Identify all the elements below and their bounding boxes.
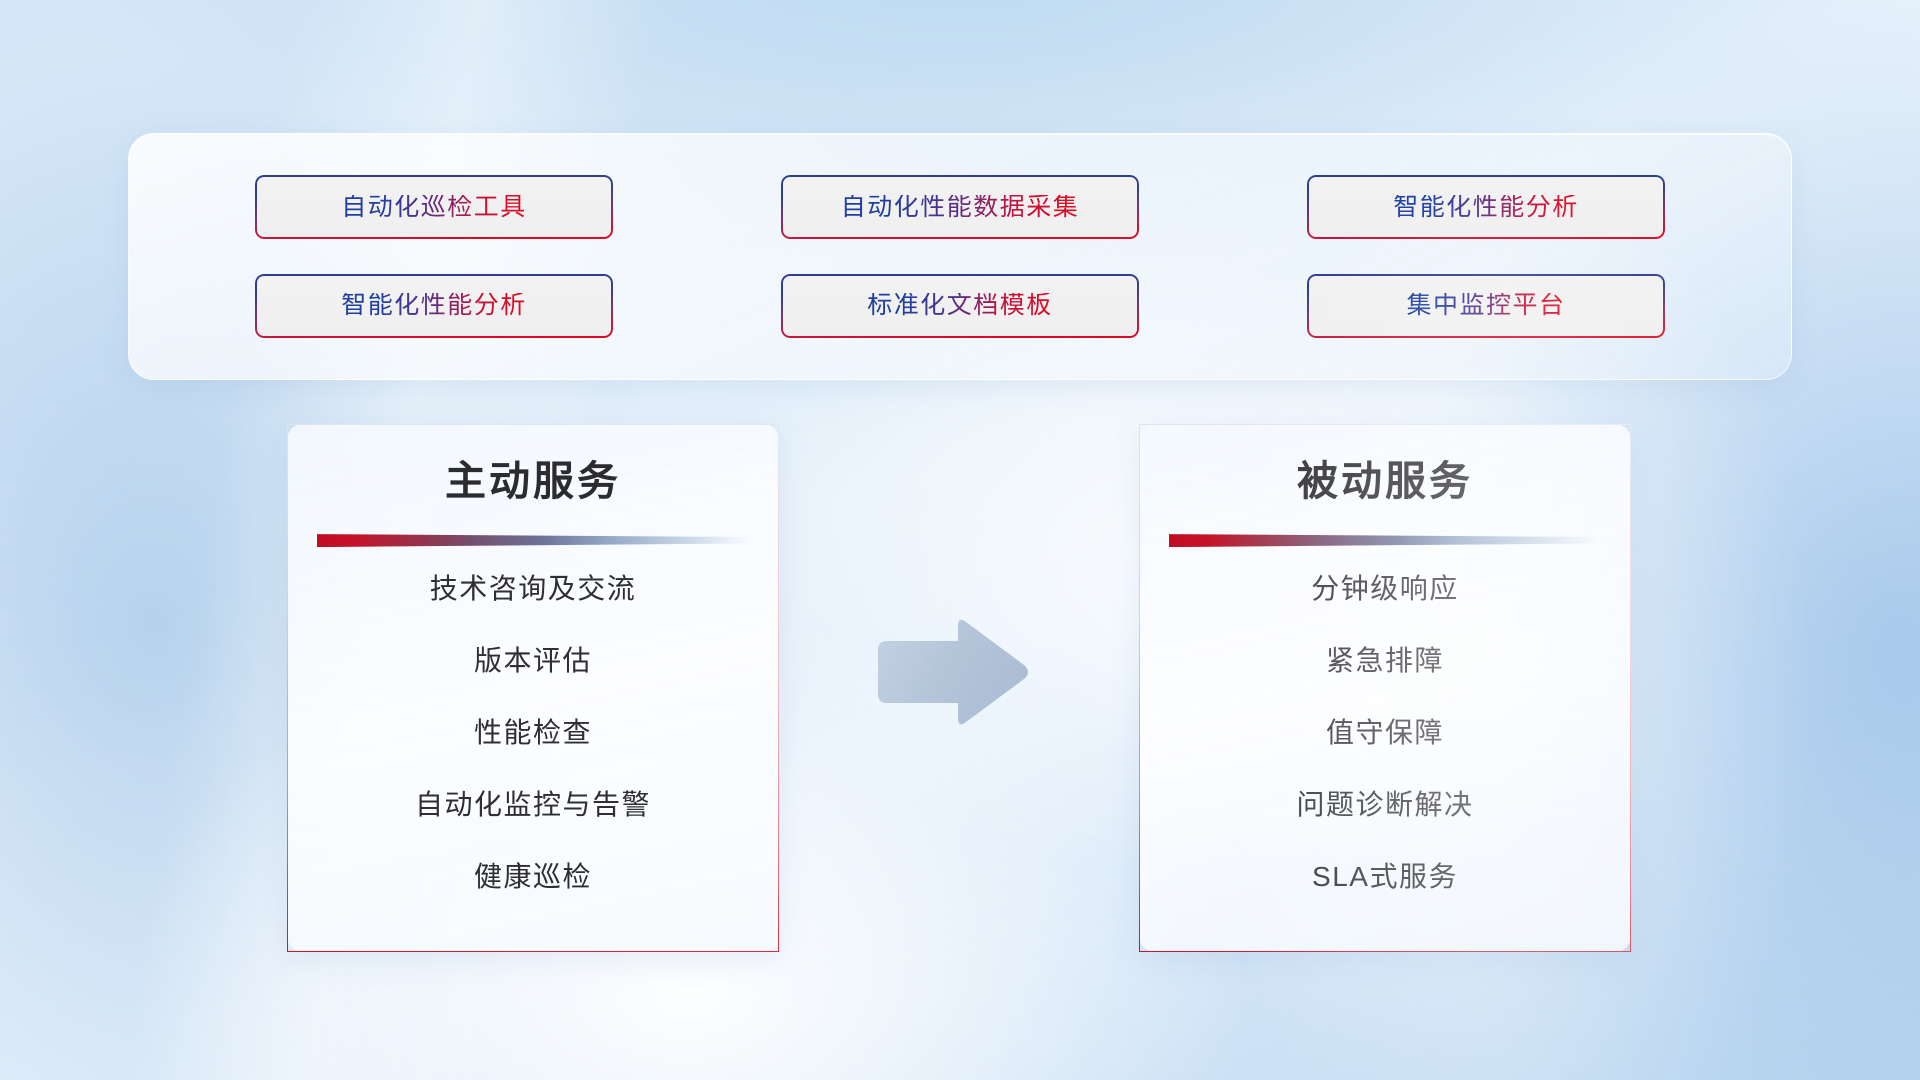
list-item: 版本评估	[474, 647, 592, 675]
card-divider	[1169, 534, 1601, 547]
capability-pill[interactable]: 智能化性能分析	[1307, 175, 1665, 239]
capability-pill-label: 自动化性能数据采集	[841, 195, 1080, 220]
capability-pill-label: 标准化文档模板	[867, 293, 1053, 318]
arrow-right-icon	[872, 614, 1032, 730]
card-title: 主动服务	[445, 459, 621, 504]
service-card-reactive[interactable]: 被动服务 分钟级响应 紧急排障 值守保障 问题诊断解决 SLA式服务	[1139, 424, 1631, 952]
capability-pill-label: 集中监控平台	[1406, 293, 1565, 318]
list-item: 技术咨询及交流	[430, 575, 637, 603]
capability-tags-panel: 自动化巡检工具 自动化性能数据采集 智能化性能分析 智能化性能分析 标准化文档模…	[128, 133, 1792, 380]
list-item: 自动化监控与告警	[415, 791, 651, 819]
list-item: 分钟级响应	[1311, 575, 1459, 603]
list-item: 性能检查	[474, 719, 592, 747]
slide-canvas: 自动化巡检工具 自动化性能数据采集 智能化性能分析 智能化性能分析 标准化文档模…	[0, 0, 1920, 1080]
capability-pill[interactable]: 智能化性能分析	[255, 274, 613, 338]
service-card-proactive[interactable]: 主动服务 技术咨询及交流 版本评估 性能检查 自动化监控与告警 健康巡检	[287, 424, 779, 952]
list-item: 健康巡检	[474, 863, 592, 891]
capability-pill[interactable]: 自动化性能数据采集	[781, 175, 1139, 239]
capability-pill[interactable]: 集中监控平台	[1307, 274, 1665, 338]
card-item-list: 技术咨询及交流 版本评估 性能检查 自动化监控与告警 健康巡检	[318, 575, 748, 891]
list-item: 问题诊断解决	[1296, 791, 1473, 819]
card-item-list: 分钟级响应 紧急排障 值守保障 问题诊断解决 SLA式服务	[1170, 575, 1600, 891]
capability-pill-label: 智能化性能分析	[341, 293, 527, 318]
card-title: 被动服务	[1297, 459, 1473, 504]
capability-pill-label: 自动化巡检工具	[341, 195, 527, 220]
capability-pill-label: 智能化性能分析	[1393, 195, 1579, 220]
list-item: SLA式服务	[1312, 863, 1458, 891]
capability-pill[interactable]: 标准化文档模板	[781, 274, 1139, 338]
list-item: 值守保障	[1326, 719, 1444, 747]
list-item: 紧急排障	[1326, 647, 1444, 675]
capability-pill[interactable]: 自动化巡检工具	[255, 175, 613, 239]
card-divider	[317, 534, 749, 547]
